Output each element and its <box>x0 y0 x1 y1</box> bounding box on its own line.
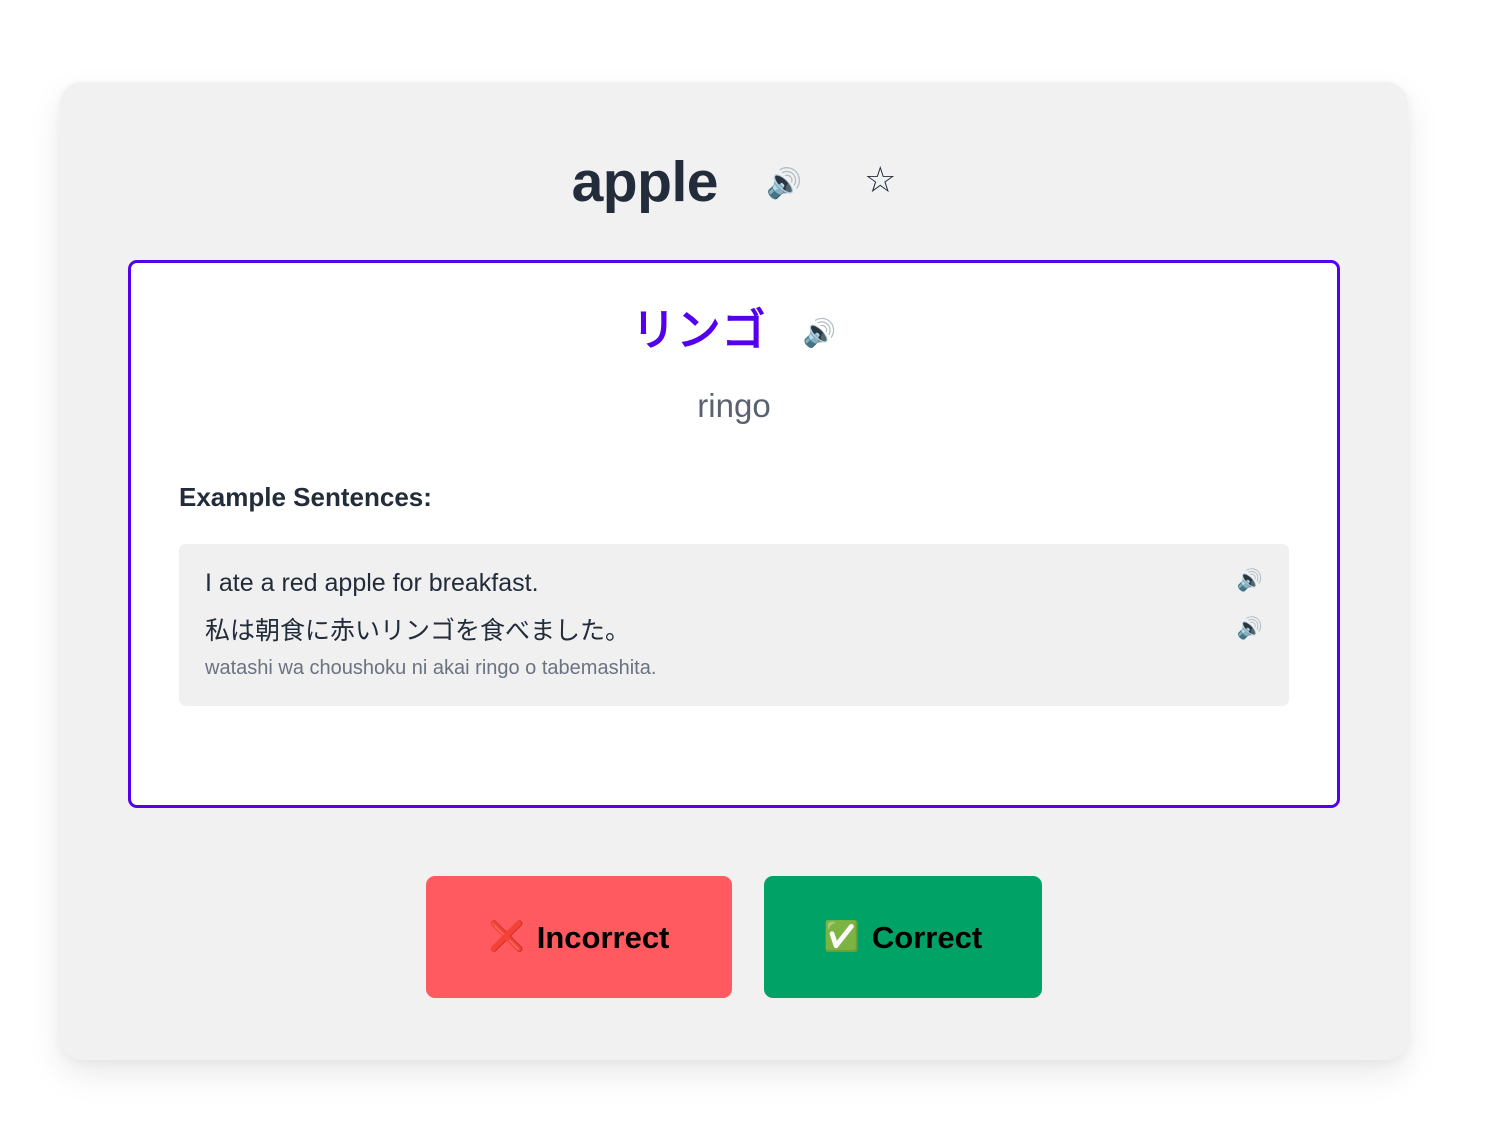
correct-button-label: Correct <box>872 922 982 953</box>
translation-word: リンゴ <box>632 309 767 353</box>
example-english-row: I ate a red apple for breakfast. 🔊 <box>205 568 1263 598</box>
example-japanese-speaker-icon[interactable]: 🔊 <box>1237 616 1263 642</box>
example-japanese-row: 私は朝食に赤いリンゴを食べました。 watashi wa choushoku n… <box>205 616 1263 680</box>
cross-mark-icon: ❌ <box>489 923 525 952</box>
check-mark-icon: ✅ <box>824 923 860 952</box>
card-header: apple 🔊 ☆ <box>60 144 1408 220</box>
flashcard-page: apple 🔊 ☆ リンゴ 🔊 ringo Example Sentences:… <box>0 0 1498 1136</box>
correct-button[interactable]: ✅ Correct <box>764 876 1042 998</box>
translation-speaker-icon[interactable]: 🔊 <box>803 320 837 347</box>
star-icon[interactable]: ☆ <box>864 162 896 198</box>
action-buttons: ❌ Incorrect ✅ Correct <box>60 876 1408 998</box>
flashcard-container: apple 🔊 ☆ リンゴ 🔊 ringo Example Sentences:… <box>60 82 1408 1060</box>
example-sentence-box: I ate a red apple for breakfast. 🔊 私は朝食に… <box>179 544 1289 706</box>
answer-panel: リンゴ 🔊 ringo Example Sentences: I ate a r… <box>128 260 1340 808</box>
page-title: apple <box>572 154 718 211</box>
example-japanese-text: 私は朝食に赤いリンゴを食べました。 <box>205 617 630 645</box>
example-english-text: I ate a red apple for breakfast. <box>205 568 539 598</box>
translation-row: リンゴ 🔊 <box>131 309 1337 353</box>
incorrect-button[interactable]: ❌ Incorrect <box>426 876 732 998</box>
incorrect-button-label: Incorrect <box>537 922 670 953</box>
examples-heading: Example Sentences: <box>179 484 1337 510</box>
example-english-speaker-icon[interactable]: 🔊 <box>1237 568 1263 594</box>
romaji-reading: ringo <box>131 389 1337 422</box>
example-romaji-text: watashi wa choushoku ni akai ringo o tab… <box>205 656 656 680</box>
speaker-icon[interactable]: 🔊 <box>766 170 802 199</box>
